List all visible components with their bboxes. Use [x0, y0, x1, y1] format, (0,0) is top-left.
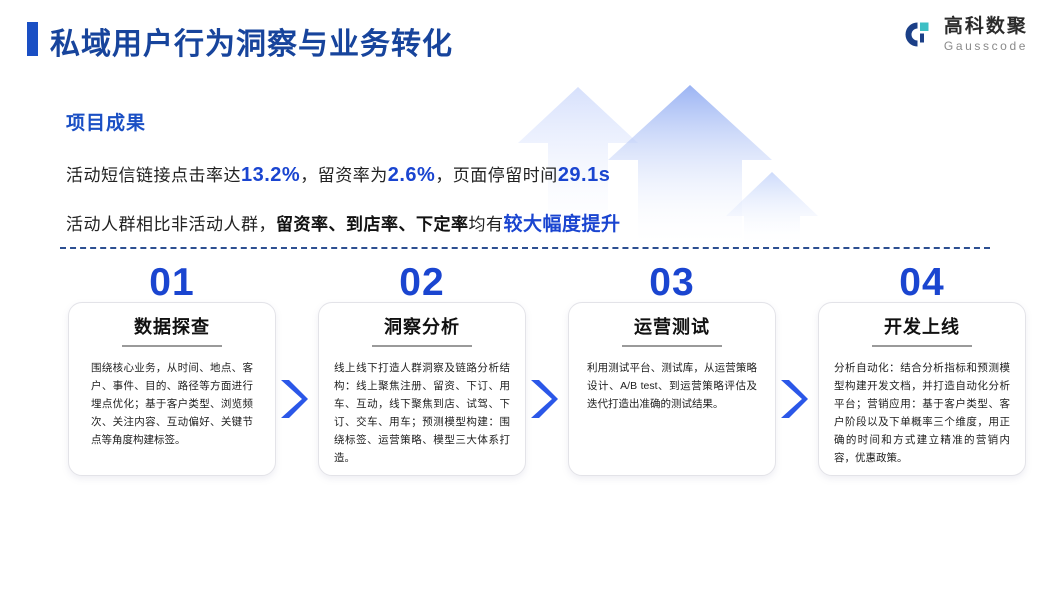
- brand-name-cn: 高科数聚: [944, 17, 1028, 36]
- step-rule-2: [372, 345, 472, 347]
- step-title-1: 数据探查: [69, 313, 275, 339]
- step-card-3[interactable]: 03 运营测试 利用测试平台、测试库，从运营策略设计、A/B test、到运营策…: [568, 302, 776, 476]
- title-accent-bar: [27, 22, 38, 56]
- step-title-4: 开发上线: [819, 313, 1025, 339]
- step-number-3: 03: [569, 261, 775, 305]
- brand-logo-text: 高科数聚 Gausscode: [944, 17, 1028, 52]
- results-l2-seg1: 活动人群相比非活动人群，: [66, 215, 276, 234]
- stat-dwell-time: 29.1s: [558, 164, 611, 186]
- step-number-2: 02: [319, 261, 525, 305]
- results-l1-seg2: ，留资率为: [300, 166, 388, 185]
- results-l2-highlight: 较大幅度提升: [504, 214, 621, 235]
- step-rule-4: [872, 345, 972, 347]
- step-card-4[interactable]: 04 开发上线 分析自动化：结合分析指标和预测模型构建开发文档，并打造自动化分析…: [818, 302, 1026, 476]
- results-line-1: 活动短信链接点击率达13.2%，留资率为2.6%，页面停留时间29.1s: [66, 161, 786, 187]
- results-l2-bold-metrics: 留资率、到店率、下定率: [276, 215, 469, 234]
- stat-lead-rate: 2.6%: [388, 164, 436, 186]
- project-results-block: 项目成果 活动短信链接点击率达13.2%，留资率为2.6%，页面停留时间29.1…: [66, 108, 786, 236]
- step-card-1[interactable]: 01 数据探查 围绕核心业务，从时间、地点、客户、事件、目的、路径等方面进行埋点…: [68, 302, 276, 476]
- chevron-right-icon-1: [278, 378, 308, 420]
- results-line-2: 活动人群相比非活动人群，留资率、到店率、下定率均有较大幅度提升: [66, 209, 786, 236]
- step-number-4: 04: [819, 261, 1025, 305]
- section-divider: [60, 247, 990, 249]
- step-title-2: 洞察分析: [319, 313, 525, 339]
- slide-header: 私域用户行为洞察与业务转化 高科数聚 Gausscode: [0, 0, 1048, 78]
- results-l1-seg1: 活动短信链接点击率达: [66, 166, 241, 185]
- gausscode-logo-icon: [901, 18, 935, 52]
- step-body-4: 分析自动化：结合分析指标和预测模型构建开发文档，并打造自动化分析平台；营销应用：…: [834, 359, 1010, 467]
- chevron-right-icon-3: [778, 378, 808, 420]
- step-number-1: 01: [69, 261, 275, 305]
- step-body-1: 围绕核心业务，从时间、地点、客户、事件、目的、路径等方面进行埋点优化；基于客户类…: [91, 359, 253, 449]
- stat-click-rate: 13.2%: [241, 164, 300, 186]
- slide-root: 私域用户行为洞察与业务转化 高科数聚 Gausscode 项目成果 活动短信链接…: [0, 0, 1048, 591]
- process-steps: 01 数据探查 围绕核心业务，从时间、地点、客户、事件、目的、路径等方面进行埋点…: [0, 270, 1048, 520]
- chevron-right-icon-2: [528, 378, 558, 420]
- step-body-3: 利用测试平台、测试库，从运营策略设计、A/B test、到运营策略评估及迭代打造…: [587, 359, 757, 413]
- results-l2-seg2: 均有: [469, 215, 504, 234]
- page-title: 私域用户行为洞察与业务转化: [50, 19, 453, 63]
- step-rule-3: [622, 345, 722, 347]
- brand-logo: 高科数聚 Gausscode: [901, 17, 1028, 52]
- brand-name-en: Gausscode: [944, 40, 1028, 52]
- step-card-2[interactable]: 02 洞察分析 线上线下打造人群洞察及链路分析结构：线上聚焦注册、留资、下订、用…: [318, 302, 526, 476]
- step-title-3: 运营测试: [569, 313, 775, 339]
- results-l1-seg3: ，页面停留时间: [435, 166, 558, 185]
- results-heading: 项目成果: [66, 108, 786, 135]
- step-rule-1: [122, 345, 222, 347]
- step-body-2: 线上线下打造人群洞察及链路分析结构：线上聚焦注册、留资、下订、用车、互动，线下聚…: [334, 359, 510, 467]
